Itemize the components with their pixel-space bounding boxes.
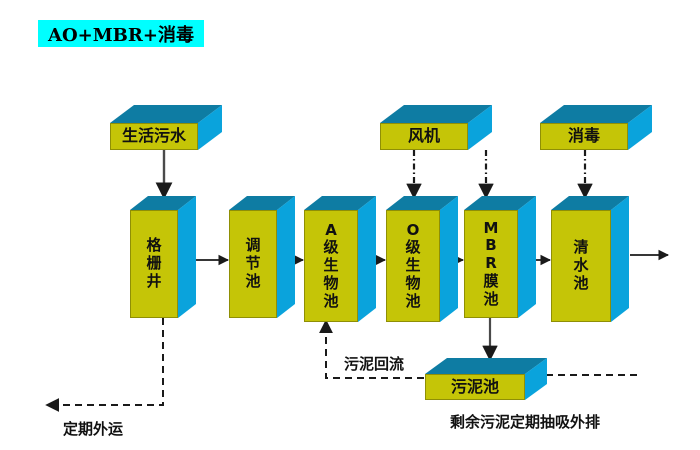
box-oxic: O级生物池 <box>386 196 458 322</box>
flowchart-canvas: AO+MBR+消毒 <box>0 0 700 450</box>
box-blower-label: 风机 <box>408 127 440 146</box>
box-anoxic-front-face: A级生物池 <box>304 210 358 322</box>
box-oxic-front-face: O级生物池 <box>386 210 440 322</box>
box-clearwater: 清水池 <box>551 196 629 322</box>
box-influent-front-face: 生活污水 <box>110 123 198 150</box>
box-disinfection-front-face: 消毒 <box>540 123 628 150</box>
caption-sludge-return: 污泥回流 <box>344 353 404 374</box>
box-mbr-front-face: MBR膜池 <box>464 210 518 318</box>
box-anoxic: A级生物池 <box>304 196 376 322</box>
box-grit-well-front-face: 格栅井 <box>130 210 178 318</box>
box-sludge-tank-label: 污泥池 <box>451 378 499 397</box>
box-clearwater-label: 清水池 <box>573 239 590 292</box>
box-disinfection: 消毒 <box>540 105 652 150</box>
box-influent-label: 生活污水 <box>122 127 186 146</box>
caption-periodic-haul: 定期外运 <box>63 418 123 439</box>
box-oxic-label: O级生物池 <box>405 222 422 310</box>
box-sludge-tank-front-face: 污泥池 <box>425 374 525 400</box>
box-influent: 生活污水 <box>110 105 222 150</box>
box-sludge-tank: 污泥池 <box>425 358 547 400</box>
box-disinfection-label: 消毒 <box>568 127 600 146</box>
box-equalization: 调节池 <box>229 196 295 318</box>
box-equalization-label: 调节池 <box>245 237 262 290</box>
box-mbr-label: MBR膜池 <box>483 220 500 308</box>
box-blower-front-face: 风机 <box>380 123 468 150</box>
connector-screenings-haul <box>48 318 163 405</box>
box-blower: 风机 <box>380 105 492 150</box>
box-mbr: MBR膜池 <box>464 196 536 318</box>
box-equalization-front-face: 调节池 <box>229 210 277 318</box>
box-anoxic-label: A级生物池 <box>323 222 340 310</box>
box-clearwater-front-face: 清水池 <box>551 210 611 322</box>
box-grit-well-label: 格栅井 <box>146 237 163 290</box>
box-grit-well: 格栅井 <box>130 196 196 318</box>
caption-excess-sludge: 剩余污泥定期抽吸外排 <box>450 411 600 432</box>
